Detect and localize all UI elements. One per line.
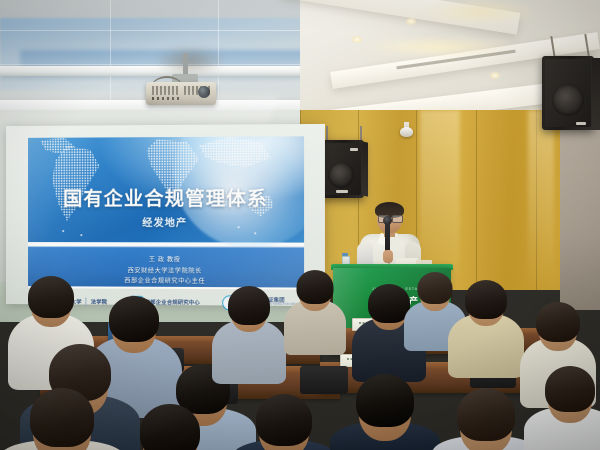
ceiling-downlight <box>406 18 416 25</box>
audience-member-hair <box>465 280 507 319</box>
ceiling-shadow-blur <box>155 46 225 76</box>
slide-title: 国有企业合规管理体系 <box>28 183 304 211</box>
audience-member-hair <box>545 366 595 412</box>
ceiling-panel-seam <box>110 0 111 100</box>
audience-member <box>284 270 346 354</box>
ceiling-downlight <box>352 36 362 43</box>
bottle-cap <box>342 253 348 256</box>
cove-light-glow <box>420 0 540 26</box>
audience-member-hair <box>256 394 312 446</box>
slide-hero-graphic: 国有企业合规管理体系 经发地产 <box>28 136 304 242</box>
audience-member <box>232 394 336 450</box>
audience-member <box>212 286 286 382</box>
presentation-slide: 国有企业合规管理体系 经发地产 王 政 教授 西安财经大学法学院院长 西部企业合… <box>28 136 304 289</box>
projector-lens-icon <box>198 86 210 98</box>
audience-member-hair <box>28 276 74 318</box>
audience-member-hair <box>228 286 270 325</box>
speaker-side-panel <box>592 58 600 130</box>
ceiling-speaker-icon <box>542 56 594 130</box>
ceiling-speaker-icon <box>320 140 364 198</box>
ceiling-panel-seam <box>0 30 320 31</box>
audience-member-hair <box>457 388 515 441</box>
wood-highlight <box>528 110 554 290</box>
audience-member <box>330 374 440 450</box>
audience-member <box>112 404 228 450</box>
audience-area <box>0 270 600 450</box>
ceiling-downlight <box>490 72 500 79</box>
audience-member-hair <box>109 296 159 342</box>
audience-member-hair <box>30 388 94 447</box>
presentation-photo-scene: 国有企业合规管理体系 经发地产 王 政 教授 西安财经大学法学院院长 西部企业合… <box>0 0 600 450</box>
audience-member-hair <box>536 302 580 342</box>
slide-subtitle: 经发地产 <box>28 214 304 229</box>
audience-member-hair <box>140 404 200 450</box>
audience-member-hair <box>356 374 414 427</box>
band-top-rule <box>28 246 304 248</box>
audience-member <box>448 280 524 376</box>
audience-member <box>0 388 124 450</box>
audience-member <box>524 366 600 450</box>
audience-member-hair <box>297 270 334 304</box>
slide-presenter-line: 王 政 教授 <box>28 254 304 264</box>
dome-camera-icon <box>400 127 413 137</box>
speaker-side-panel <box>362 141 368 196</box>
microphone-head-icon <box>383 216 392 225</box>
